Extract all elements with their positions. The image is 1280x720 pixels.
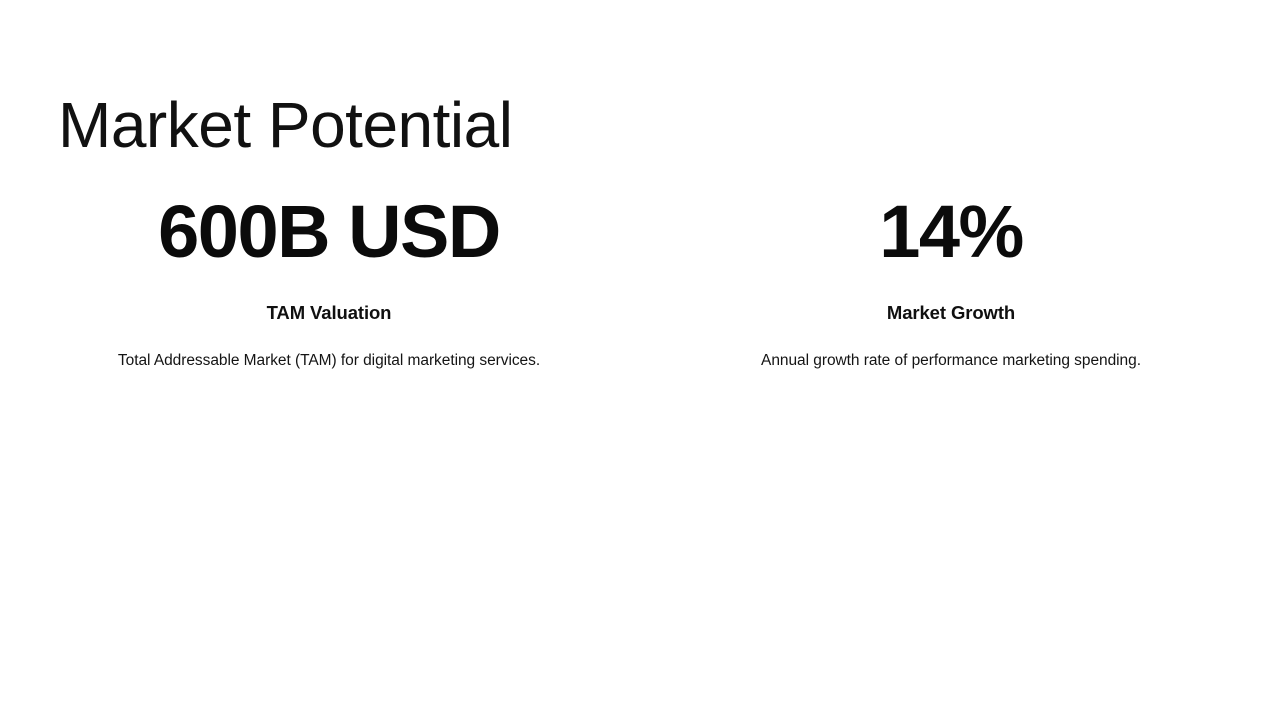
stat-description: Total Addressable Market (TAM) for digit… xyxy=(118,350,540,372)
stat-description: Annual growth rate of performance market… xyxy=(761,350,1141,372)
page-title: Market Potential xyxy=(58,93,512,157)
stat-label: Market Growth xyxy=(887,301,1015,325)
stats-row: 600B USD TAM Valuation Total Addressable… xyxy=(58,188,1222,372)
stat-card-market-growth: 14% Market Growth Annual growth rate of … xyxy=(680,188,1222,372)
stat-card-tam-valuation: 600B USD TAM Valuation Total Addressable… xyxy=(58,188,600,372)
stat-value: 14% xyxy=(879,188,1023,276)
slide-root: Market Potential 600B USD TAM Valuation … xyxy=(0,0,1280,720)
stat-label: TAM Valuation xyxy=(267,301,392,325)
stat-value: 600B USD xyxy=(158,188,500,276)
